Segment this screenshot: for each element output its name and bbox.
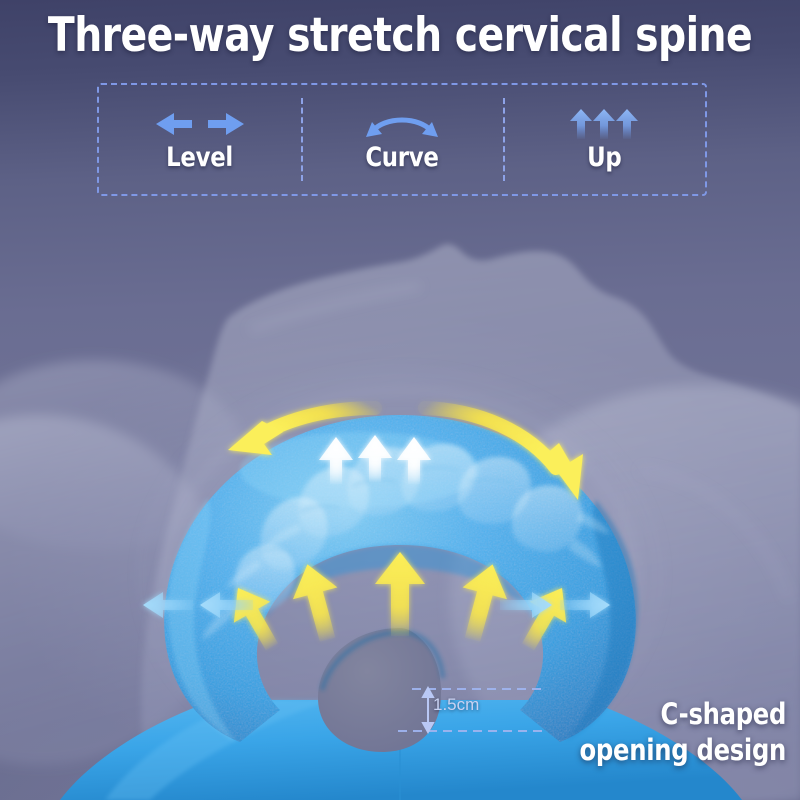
feature-item-level[interactable]: Level <box>99 85 301 194</box>
dimension-label: 1.5cm <box>433 695 479 715</box>
feature-item-curve[interactable]: Curve <box>301 85 503 194</box>
feature-item-up[interactable]: Up <box>503 85 705 194</box>
feature-label-curve: Curve <box>365 143 438 173</box>
caption-line-1: C-shaped <box>579 696 786 732</box>
feature-label-up: Up <box>587 143 621 173</box>
page-title: Three-way stretch cervical spine <box>28 8 772 64</box>
feature-label-level: Level <box>167 143 234 173</box>
horizontal-double-arrow-icon <box>152 107 248 141</box>
arc-double-arrow-icon <box>354 107 450 141</box>
product-infographic: 1.5cm Three-way stretch cervical spine L… <box>0 0 800 800</box>
caption-line-2: opening design <box>579 732 786 768</box>
feature-box: Level Curve <box>97 83 707 196</box>
c-shape-caption: C-shaped opening design <box>579 696 786 768</box>
triple-up-arrow-icon <box>556 107 652 141</box>
